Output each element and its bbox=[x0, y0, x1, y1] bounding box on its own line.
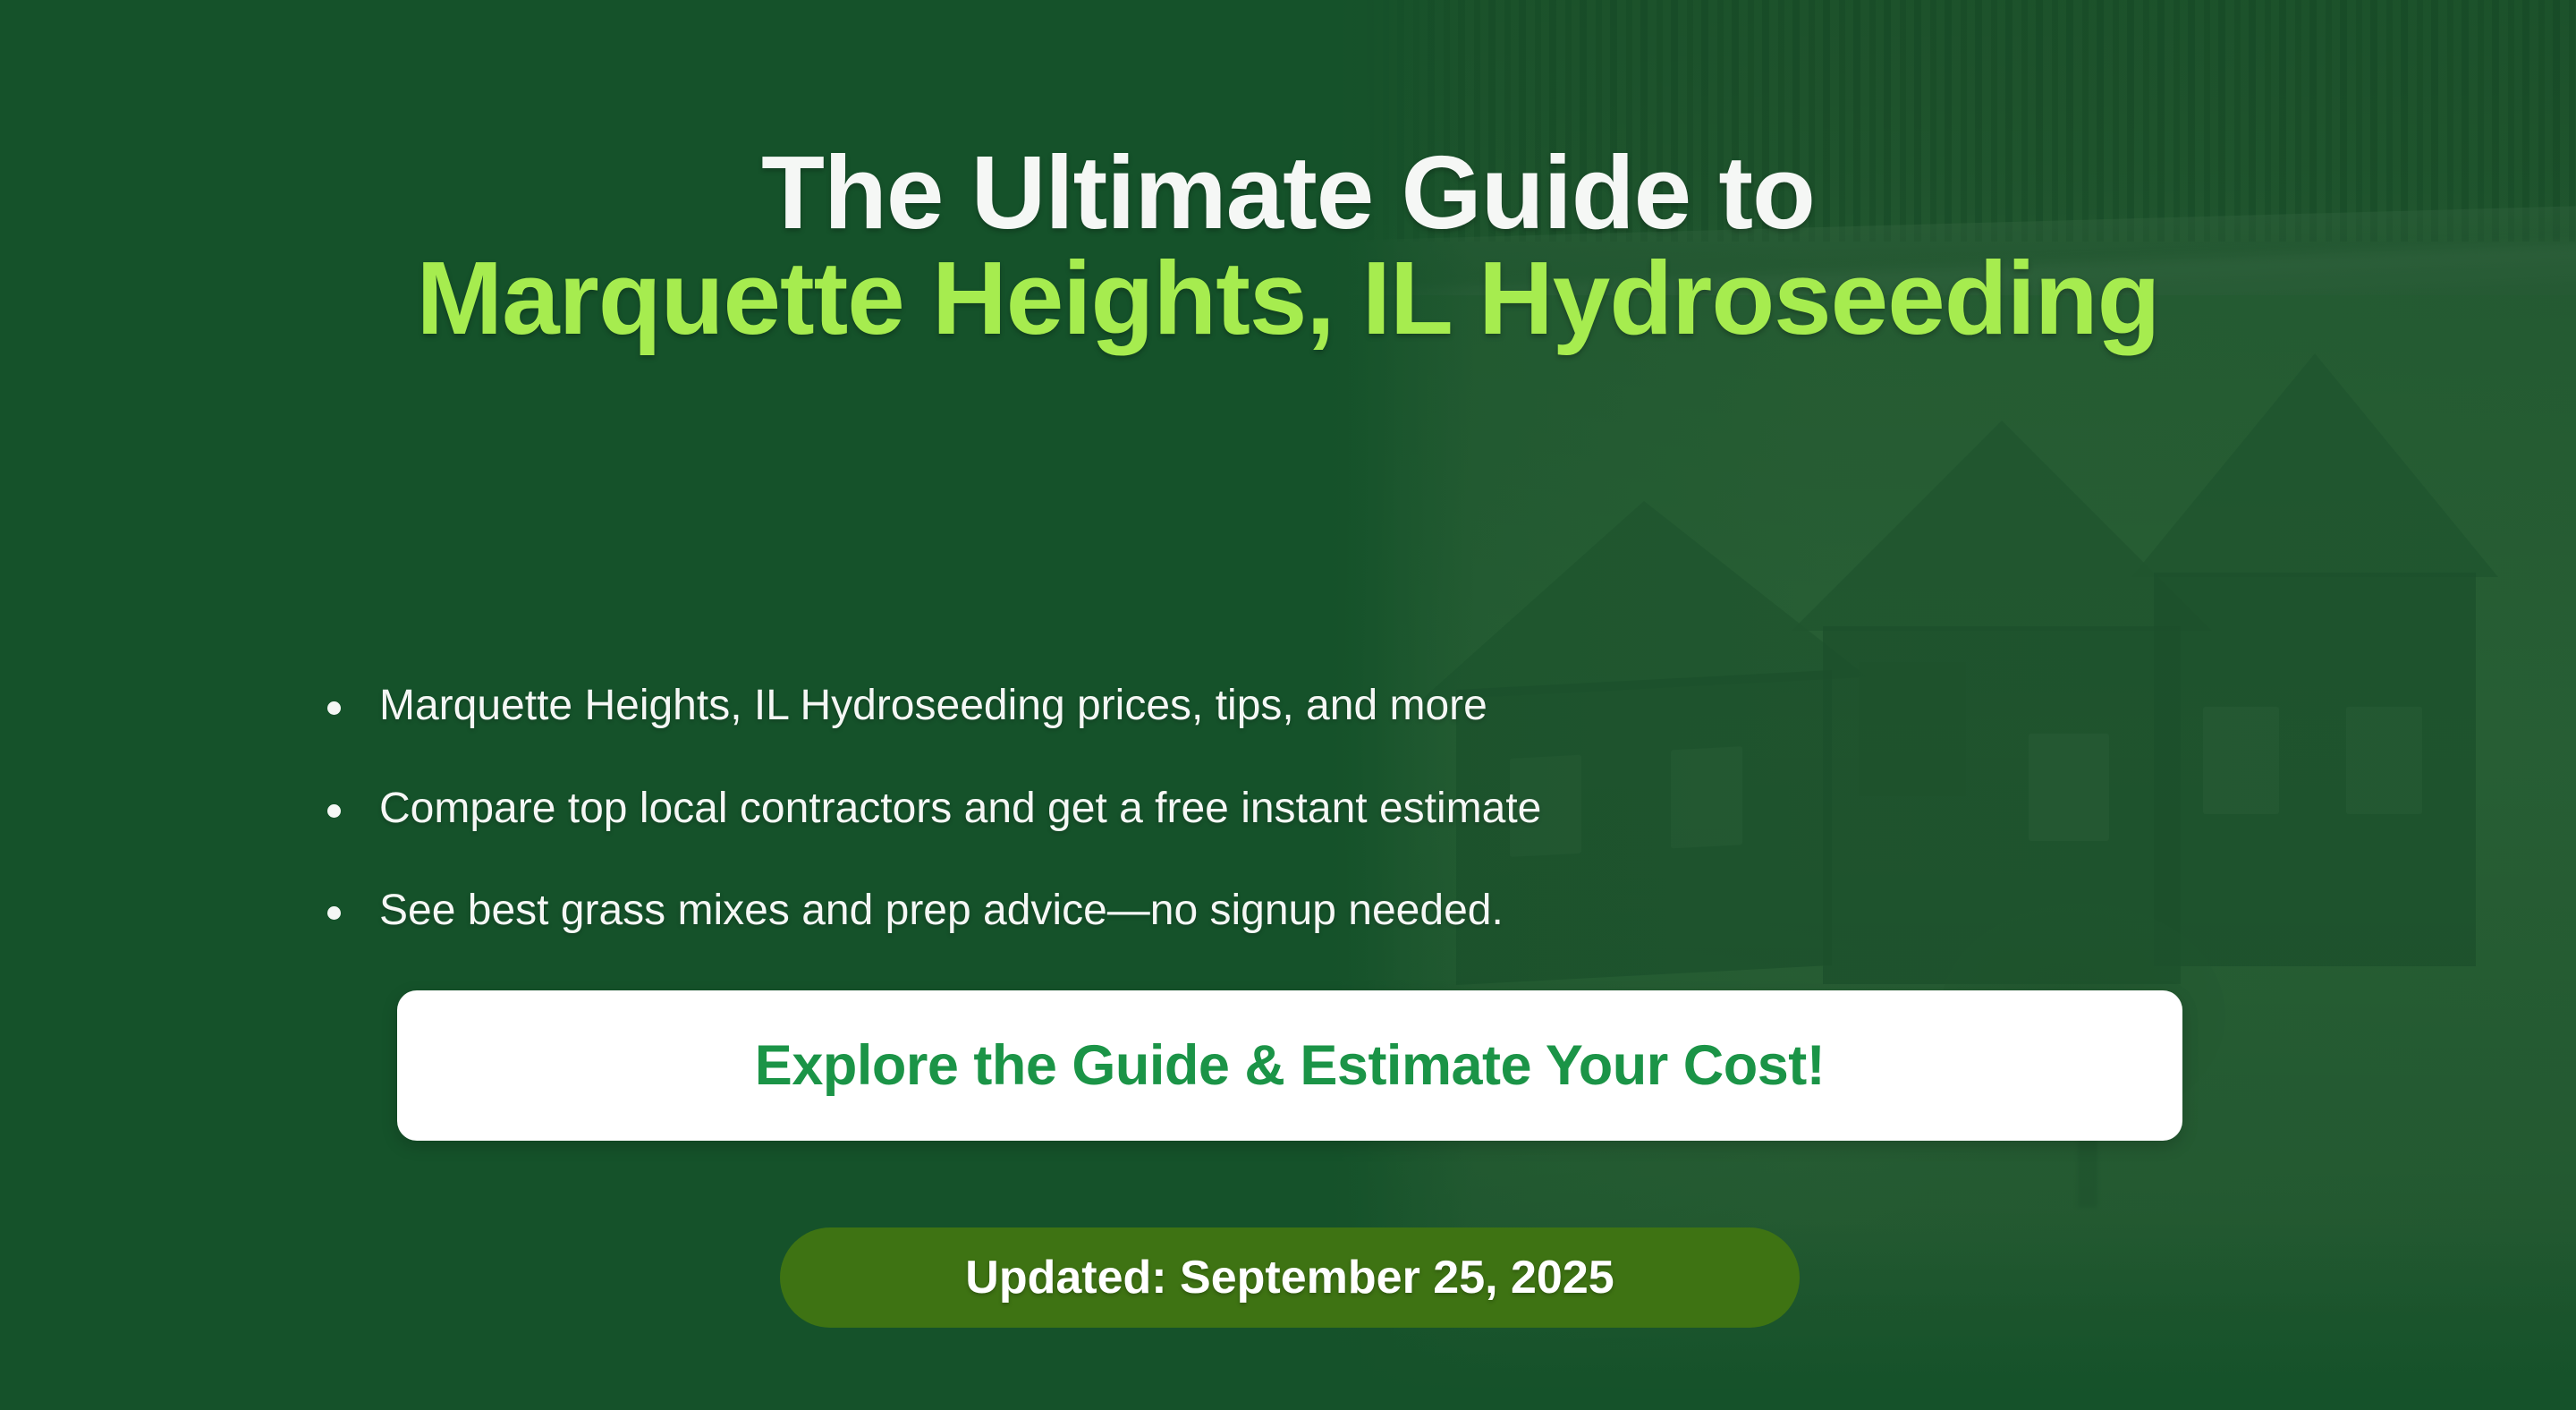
list-item-label: Compare top local contractors and get a … bbox=[379, 785, 1541, 832]
bullet-dot-icon bbox=[327, 804, 341, 818]
explore-guide-button-label: Explore the Guide & Estimate Your Cost! bbox=[755, 1033, 1825, 1098]
headline-line-1: The Ultimate Guide to bbox=[268, 140, 2308, 245]
list-item: Compare top local contractors and get a … bbox=[313, 783, 2263, 836]
updated-badge: Updated: September 25, 2025 bbox=[780, 1227, 1800, 1328]
benefit-list: Marquette Heights, IL Hydroseeding price… bbox=[313, 680, 2263, 938]
headline-line-2: Marquette Heights, IL Hydroseeding bbox=[268, 245, 2308, 351]
list-item: Marquette Heights, IL Hydroseeding price… bbox=[313, 680, 2263, 733]
hero-content: The Ultimate Guide to Marquette Heights,… bbox=[0, 0, 2576, 1410]
list-item: See best grass mixes and prep advice—no … bbox=[313, 885, 2263, 938]
page-title: The Ultimate Guide to Marquette Heights,… bbox=[0, 140, 2576, 352]
updated-badge-label: Updated: September 25, 2025 bbox=[965, 1251, 1614, 1304]
bullet-dot-icon bbox=[327, 906, 341, 920]
list-item-label: See best grass mixes and prep advice—no … bbox=[379, 887, 1504, 934]
list-item-label: Marquette Heights, IL Hydroseeding price… bbox=[379, 682, 1487, 729]
explore-guide-button[interactable]: Explore the Guide & Estimate Your Cost! bbox=[397, 990, 2182, 1141]
hero-banner: The Ultimate Guide to Marquette Heights,… bbox=[0, 0, 2576, 1410]
bullet-dot-icon bbox=[327, 701, 341, 715]
